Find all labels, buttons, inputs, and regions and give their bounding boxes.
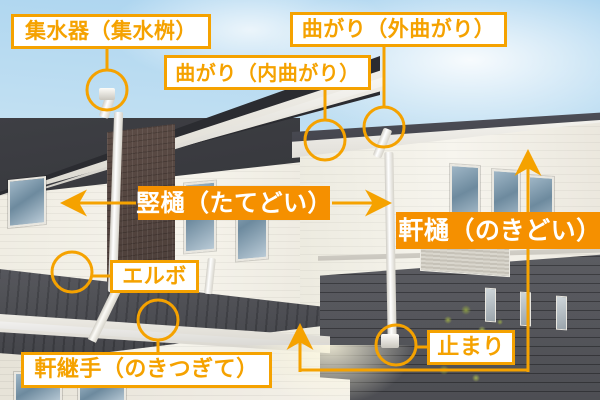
circle-erubo — [52, 252, 92, 292]
annotated-photo-stage: 集水器（集水桝） 曲がり（内曲がり） 曲がり（外曲がり） 竪樋（たてどい） 軒樋… — [0, 0, 600, 400]
label-shusuiki: 集水器（集水桝） — [11, 14, 211, 49]
circle-magari-soto — [364, 107, 404, 147]
label-magari-soto: 曲がり（外曲がり） — [290, 12, 507, 47]
circle-shusuiki — [87, 70, 127, 110]
circle-tomari — [376, 325, 416, 365]
circle-nokitsugite — [138, 300, 178, 340]
label-erubo: エルボ — [110, 260, 199, 293]
label-nokitsugite: 軒継手（のきつぎて） — [21, 352, 272, 388]
label-tatedoi: 竪樋（たてどい） — [138, 186, 330, 220]
label-magari-uchi: 曲がり（内曲がり） — [164, 55, 371, 90]
label-tomari: 止まり — [427, 330, 515, 365]
label-nokidoi: 軒樋（のきどい） — [396, 212, 600, 249]
annotation-layer: 集水器（集水桝） 曲がり（内曲がり） 曲がり（外曲がり） 竪樋（たてどい） 軒樋… — [0, 0, 600, 400]
circle-magari-uchi — [305, 120, 345, 160]
